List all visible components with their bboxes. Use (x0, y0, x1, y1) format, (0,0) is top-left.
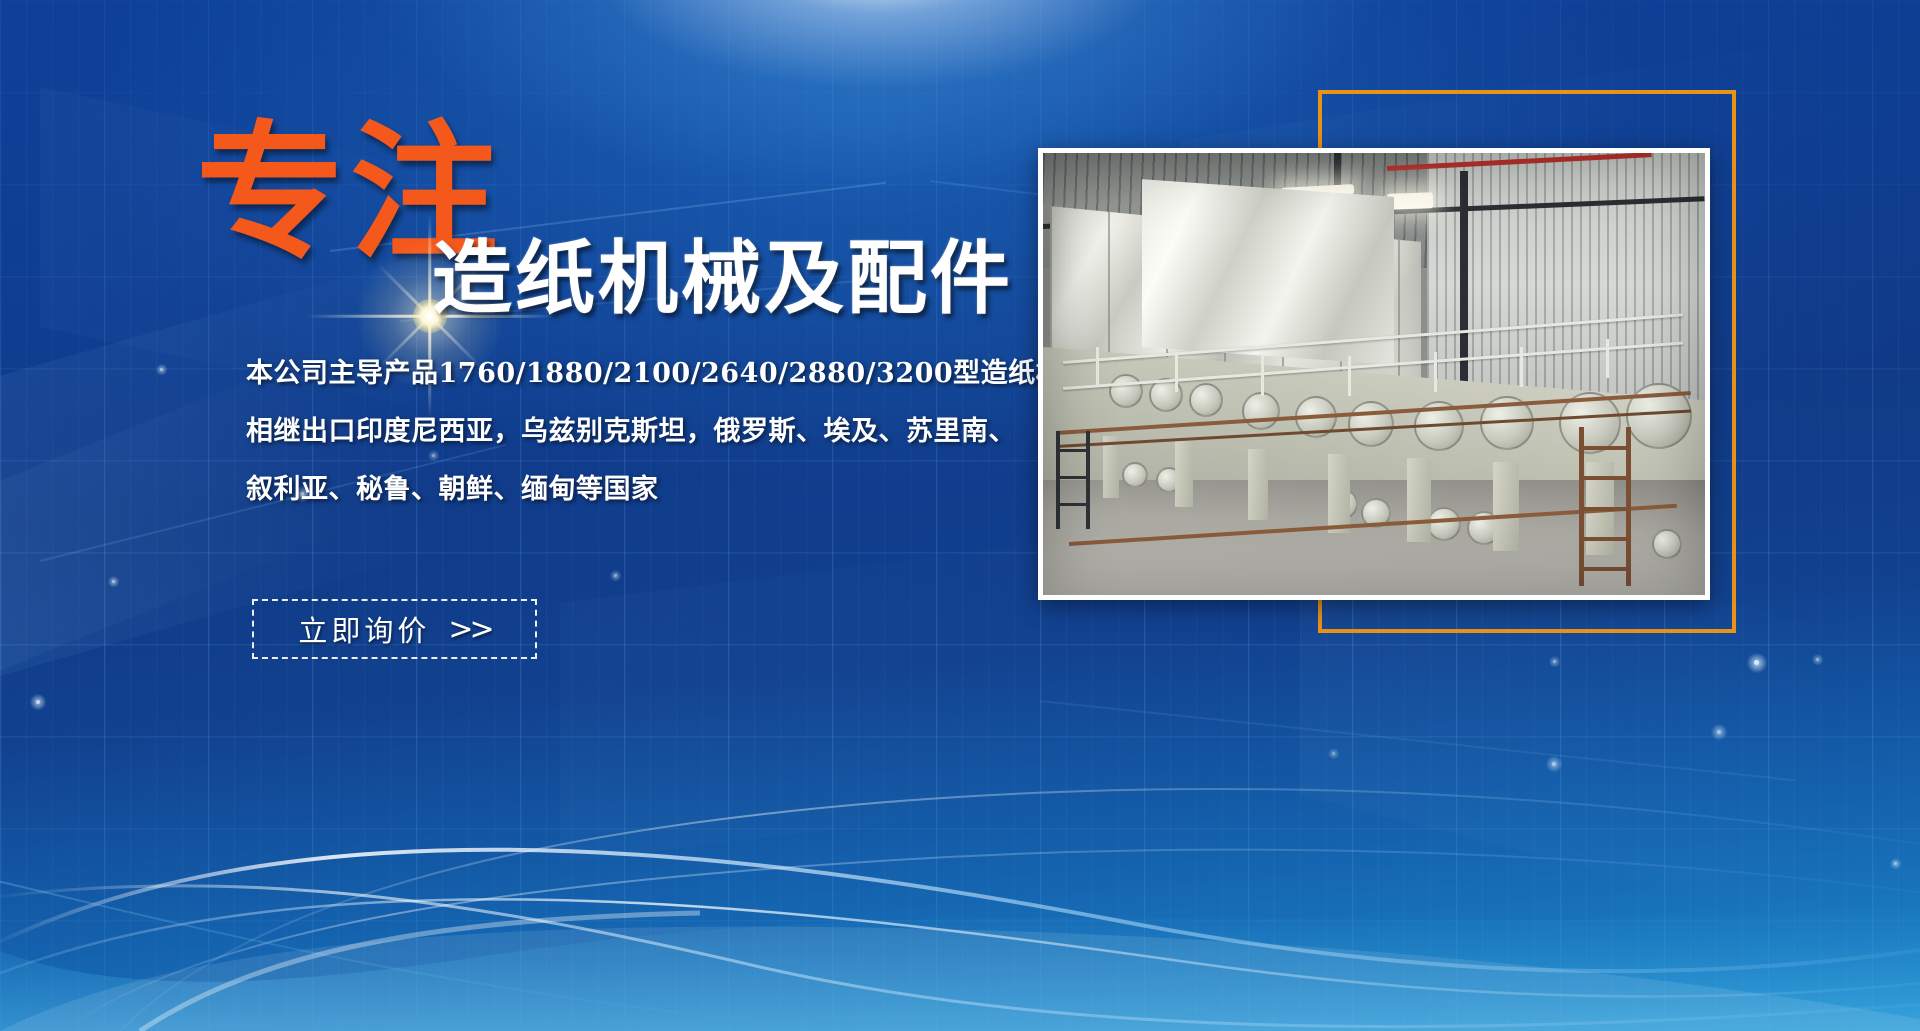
page-title: 造纸机械及配件 (432, 238, 1013, 318)
sparkle-dot (1894, 862, 1897, 865)
inquire-now-label: 立即询价 (298, 608, 430, 650)
sparkle-dot (1553, 660, 1556, 663)
inquire-now-button[interactable]: 立即询价 >> (252, 599, 537, 659)
hero-text-block: 专注 造纸机械及配件 本公司主导产品1760/1880/2100/2640/28… (0, 0, 1040, 1031)
product-photo (1043, 153, 1705, 595)
double-chevron-right-icon: >> (448, 612, 490, 647)
sparkle-dot (1754, 660, 1759, 665)
description-line-1: 本公司主导产品1760/1880/2100/2640/2880/3200型造纸机 (246, 358, 1026, 391)
hero-banner: 专注 造纸机械及配件 本公司主导产品1760/1880/2100/2640/28… (0, 0, 1920, 1031)
sparkle-dot (1552, 762, 1556, 766)
product-photo-frame[interactable] (1038, 148, 1710, 600)
sparkle-dot (1332, 752, 1335, 755)
sparkle-dot (1717, 730, 1721, 734)
description-line-2: 相继出口印度尼西亚，乌兹别克斯坦，俄罗斯、埃及、苏里南、 (246, 416, 1026, 449)
description-line-3: 叙利亚、秘鲁、朝鲜、缅甸等国家 (246, 474, 1026, 507)
hero-description: 本公司主导产品1760/1880/2100/2640/2880/3200型造纸机… (246, 358, 1026, 532)
sparkle-dot (1816, 658, 1819, 661)
